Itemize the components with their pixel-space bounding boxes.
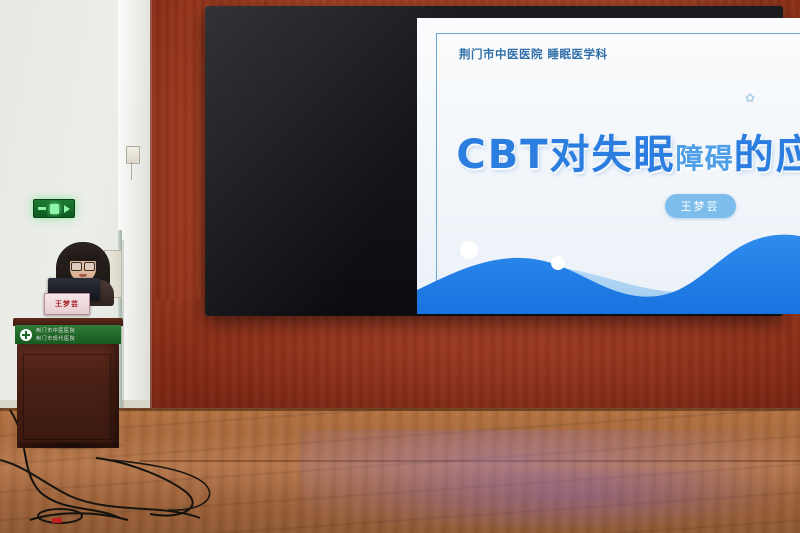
podium-nameplate-text: 王梦芸 <box>55 299 79 309</box>
running-person-icon <box>50 204 59 214</box>
emergency-exit-sign <box>33 199 75 218</box>
wave-bubble-2 <box>551 256 565 270</box>
wall-socket-box <box>126 146 140 164</box>
podium-banner-line-1: 荆门市中医医院 <box>36 327 75 334</box>
wave-bubble-1 <box>460 241 478 259</box>
led-screen-bezel: 荆门市中医医院 睡眠医学科 ✿ CBT对失眠障碍的应对方案 王梦芸 <box>205 6 783 316</box>
podium-floor-shadow <box>13 442 125 450</box>
exit-sign-bar <box>38 207 46 210</box>
slide-title-part-3: 的应对方案 <box>734 132 800 178</box>
presenter-hair-front <box>66 244 100 261</box>
presentation-screen: 荆门市中医医院 睡眠医学科 ✿ CBT对失眠障碍的应对方案 王梦芸 <box>417 18 800 314</box>
floor-light-reflection-secondary <box>360 470 800 533</box>
presentation-room-photo: 荆门市中医医院 睡眠医学科 ✿ CBT对失眠障碍的应对方案 王梦芸 <box>0 0 800 533</box>
medical-cross-icon <box>20 329 32 341</box>
slide-title-part-2: 障碍 <box>676 142 734 175</box>
podium-banner-line-2: 荆门市现代医院 <box>36 335 75 342</box>
podium-front-panel <box>17 344 119 448</box>
exit-arrow-icon <box>64 205 70 213</box>
podium-banner-text: 荆门市中医医院 荆门市现代医院 <box>36 327 75 342</box>
speaker-podium: 荆门市中医医院 荆门市现代医院 <box>13 318 123 448</box>
lotus-watermark-icon: ✿ <box>745 91 755 105</box>
slide-header-text: 荆门市中医医院 睡眠医学科 <box>459 46 608 62</box>
slide-title: CBT对失眠障碍的应对方案 <box>417 122 800 180</box>
podium-green-banner: 荆门市中医医院 荆门市现代医院 <box>15 325 121 344</box>
slide-title-part-1: CBT对失眠 <box>456 132 675 178</box>
wall-socket-cord <box>131 162 132 180</box>
presenter-glasses <box>71 262 95 269</box>
decorative-wave-graphic <box>417 194 800 314</box>
podium-nameplate: 王梦芸 <box>44 293 90 315</box>
